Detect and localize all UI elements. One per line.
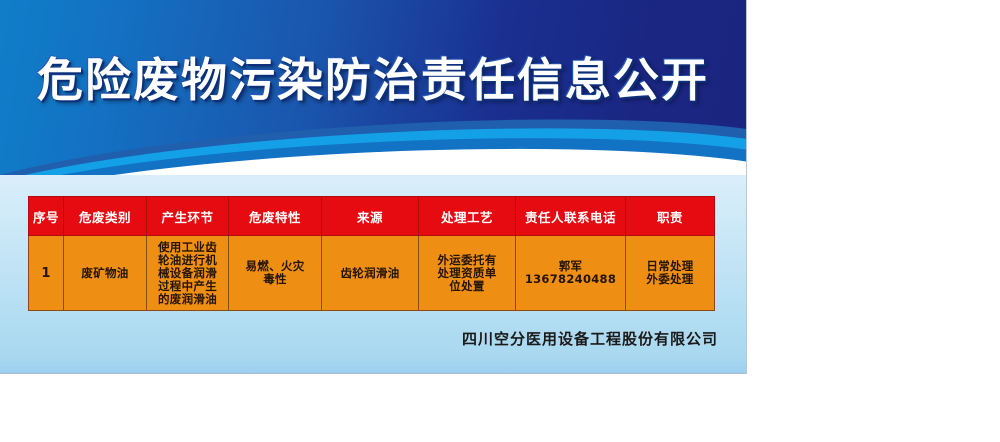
table-row: 1 废矿物油 使用工业齿 轮油进行机 械设备润滑 过程中产生 的废润滑油 易燃、… xyxy=(29,236,715,311)
table-header-contact: 责任人联系电话 xyxy=(516,197,626,236)
cell-generation-stage-line: 械设备润滑 xyxy=(149,267,226,280)
cell-treatment-line: 处理资质单 xyxy=(421,267,513,280)
poster-banner: 危险废物污染防治责任信息公开 xyxy=(0,0,746,175)
cell-hazard-characteristics: 易燃、火灾 毒性 xyxy=(229,236,322,311)
responsible-person-phone: 13678240488 xyxy=(518,273,623,286)
cell-duty-line: 外委处理 xyxy=(628,273,712,286)
cell-generation-stage-line: 使用工业齿 xyxy=(149,241,226,254)
table-header-treatment: 处理工艺 xyxy=(419,197,516,236)
table-header-stage: 产生环节 xyxy=(147,197,229,236)
cell-responsible-contact: 郭军 13678240488 xyxy=(516,236,626,311)
cell-generation-stage-line: 轮油进行机 xyxy=(149,254,226,267)
cell-treatment-line: 外运委托有 xyxy=(421,254,513,267)
table-header-duty: 职责 xyxy=(626,197,715,236)
cell-generation-stage: 使用工业齿 轮油进行机 械设备润滑 过程中产生 的废润滑油 xyxy=(147,236,229,311)
poster-board: 危险废物污染防治责任信息公开 序号 危废类别 产生环节 危废特性 来源 处理工艺… xyxy=(0,0,747,374)
table-header-row: 序号 危废类别 产生环节 危废特性 来源 处理工艺 责任人联系电话 职责 xyxy=(29,197,715,236)
table-header-hazard: 危废特性 xyxy=(229,197,322,236)
table-header-category: 危废类别 xyxy=(64,197,147,236)
hazardous-waste-table: 序号 危废类别 产生环节 危废特性 来源 处理工艺 责任人联系电话 职责 1 废… xyxy=(28,196,715,311)
table-header-index: 序号 xyxy=(29,197,64,236)
cell-generation-stage-line: 的废润滑油 xyxy=(149,293,226,306)
cell-source: 齿轮润滑油 xyxy=(322,236,419,311)
company-name-footer: 四川空分医用设备工程股份有限公司 xyxy=(0,328,718,349)
cell-duty: 日常处理 外委处理 xyxy=(626,236,715,311)
cell-category: 废矿物油 xyxy=(64,236,147,311)
cell-index: 1 xyxy=(29,236,64,311)
table-header-source: 来源 xyxy=(322,197,419,236)
cell-generation-stage-line: 过程中产生 xyxy=(149,280,226,293)
poster-title: 危险废物污染防治责任信息公开 xyxy=(0,52,746,108)
cell-treatment-line: 位处置 xyxy=(421,280,513,293)
cell-treatment: 外运委托有 处理资质单 位处置 xyxy=(419,236,516,311)
cell-hazard-line: 毒性 xyxy=(231,273,319,286)
